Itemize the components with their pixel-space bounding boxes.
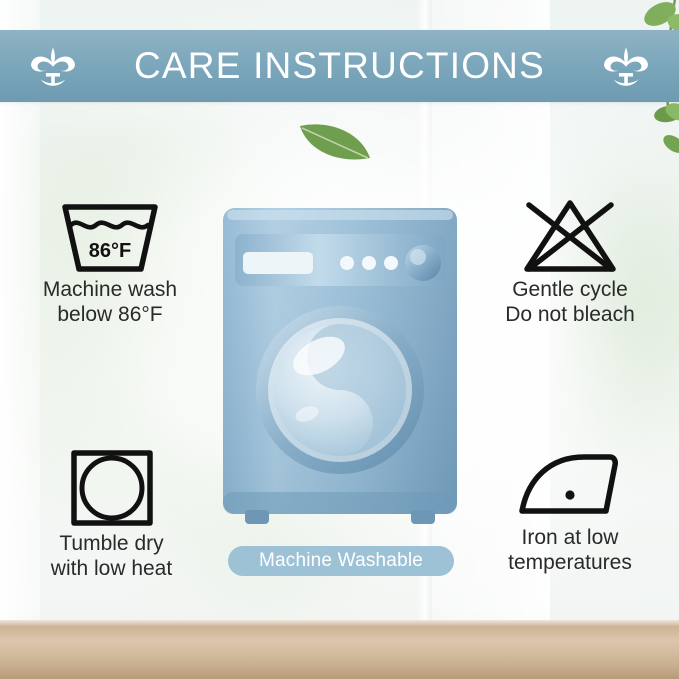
floating-leaf-icon — [296, 118, 376, 168]
care-item-machine-wash: 86°F Machine wash below 86°F — [10, 195, 210, 327]
care-label-gentle-cycle: Gentle cycle Do not bleach — [470, 277, 670, 327]
scene: CARE INSTRUCTIONS — [0, 0, 679, 679]
care-label-iron: Iron at low temperatures — [470, 525, 670, 575]
crossed-triangle-bleach-icon-wrap — [470, 195, 670, 277]
iron-icon — [510, 445, 630, 525]
care-label-tumble-dry: Tumble dry with low heat — [14, 531, 209, 581]
care-item-tumble-dry: Tumble dry with low heat — [14, 445, 209, 581]
crossed-triangle-bleach-icon — [515, 195, 625, 277]
care-item-iron: Iron at low temperatures — [470, 445, 670, 575]
page-title: CARE INSTRUCTIONS — [134, 45, 545, 87]
machine-washable-badge-label: Machine Washable — [259, 550, 423, 572]
care-item-gentle-cycle: Gentle cycle Do not bleach — [470, 195, 670, 327]
wash-tub-icon: 86°F — [55, 195, 165, 277]
tumble-dry-square-icon-wrap — [14, 445, 209, 531]
care-label-machine-wash: Machine wash below 86°F — [10, 277, 210, 327]
wash-temp-text: 86°F — [89, 240, 131, 262]
fleur-de-lis-icon — [26, 44, 80, 88]
care-instructions-banner: CARE INSTRUCTIONS — [0, 30, 679, 102]
tumble-dry-square-icon — [62, 445, 162, 531]
washing-machine-illustration — [215, 200, 465, 540]
machine-washable-badge: Machine Washable — [228, 546, 454, 576]
fleur-de-lis-icon — [599, 44, 653, 88]
wash-tub-icon-wrap: 86°F — [10, 195, 210, 277]
wooden-counter — [0, 620, 679, 679]
iron-icon-wrap — [470, 445, 670, 525]
